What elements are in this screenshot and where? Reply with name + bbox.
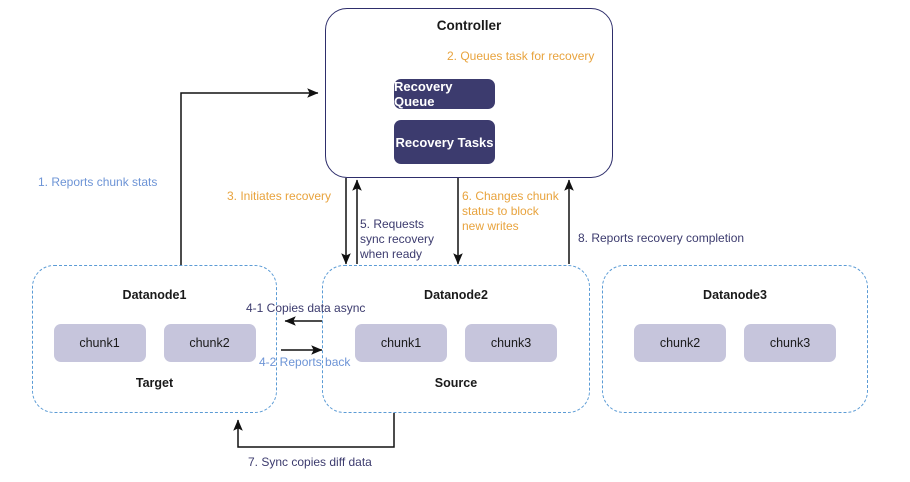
datanode-2-title: Datanode2 xyxy=(323,288,589,302)
datanode-3-chunk-row: chunk2 chunk3 xyxy=(603,324,867,362)
datanode-1-title: Datanode1 xyxy=(33,288,276,302)
flow-label-6: 6. Changes chunk status to block new wri… xyxy=(462,189,559,234)
controller-title: Controller xyxy=(325,18,613,33)
chunk-box[interactable]: chunk1 xyxy=(54,324,146,362)
datanode-3[interactable]: Datanode3 chunk2 chunk3 xyxy=(602,265,868,413)
flow-label-4-1: 4-1 Copies data async xyxy=(246,301,365,316)
datanode-3-title: Datanode3 xyxy=(603,288,867,302)
chunk-box[interactable]: chunk1 xyxy=(355,324,447,362)
flow-label-7: 7. Sync copies diff data xyxy=(248,455,372,470)
flow-label-4-2: 4-2 Reports back xyxy=(259,355,350,370)
flow-label-2: 2. Queues task for recovery xyxy=(447,49,594,64)
datanode-1[interactable]: Datanode1 chunk1 chunk2 Target xyxy=(32,265,277,413)
datanode-2[interactable]: Datanode2 chunk1 chunk3 Source xyxy=(322,265,590,413)
flow-label-1: 1. Reports chunk stats xyxy=(38,175,157,190)
recovery-tasks-box[interactable]: Recovery Tasks xyxy=(394,120,495,164)
chunk-box[interactable]: chunk2 xyxy=(634,324,726,362)
arrow-flow-1 xyxy=(181,93,318,265)
flow-label-3: 3. Initiates recovery xyxy=(227,189,331,204)
chunk-box[interactable]: chunk3 xyxy=(744,324,836,362)
flow-label-8: 8. Reports recovery completion xyxy=(578,231,744,246)
datanode-1-chunk-row: chunk1 chunk2 xyxy=(33,324,276,362)
flow-label-5: 5. Requests sync recovery when ready xyxy=(360,217,434,262)
arrow-flow-7 xyxy=(238,413,394,447)
chunk-box[interactable]: chunk2 xyxy=(164,324,256,362)
diagram-canvas: Controller Recovery Queue Recovery Tasks… xyxy=(0,0,910,482)
datanode-1-role: Target xyxy=(33,376,276,390)
datanode-2-chunk-row: chunk1 chunk3 xyxy=(323,324,589,362)
recovery-queue-box[interactable]: Recovery Queue xyxy=(394,79,495,109)
datanode-2-role: Source xyxy=(323,376,589,390)
chunk-box[interactable]: chunk3 xyxy=(465,324,557,362)
